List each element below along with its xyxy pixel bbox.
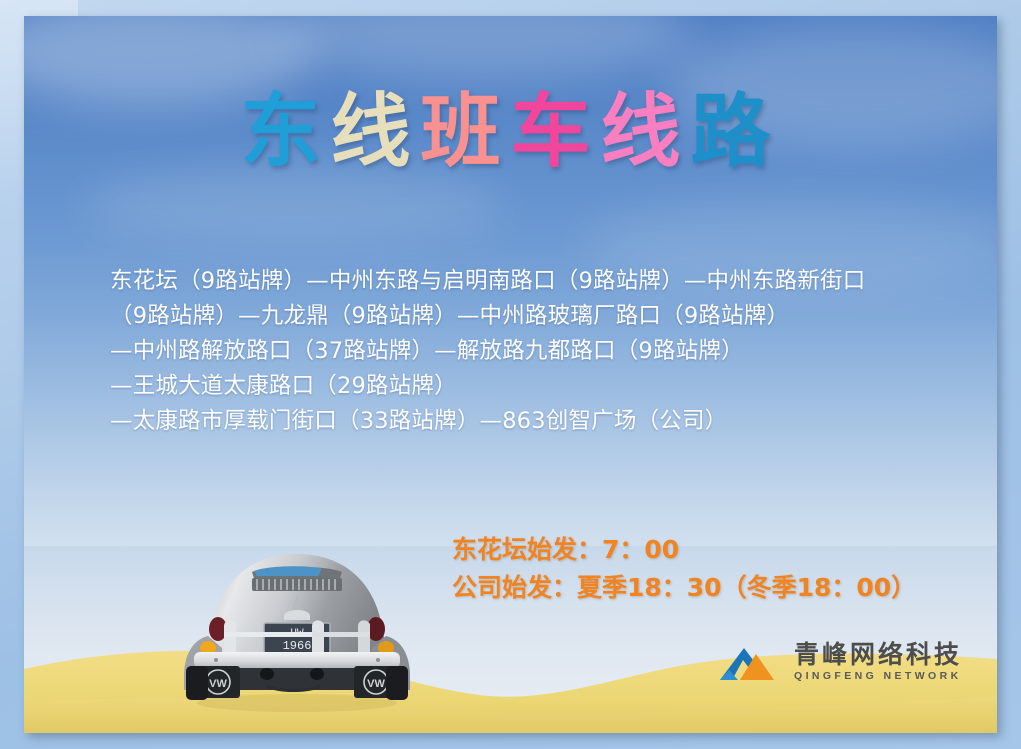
title-char-5: 路 bbox=[691, 85, 781, 178]
title-char-2: 班 bbox=[421, 85, 511, 178]
route-line-1: 东花坛（9路站牌）—中州东路与启明南路口（9路站牌）—中州东路新街口 bbox=[110, 264, 940, 299]
slide-title: 东线班车线路 bbox=[24, 92, 997, 172]
plate-line-2: 1966 bbox=[283, 639, 312, 653]
route-line-3: —中州路解放路口（37路站牌）—解放路九都路口（9路站牌） bbox=[110, 334, 940, 369]
route-line-5: —太康路市厚载门街口（33路站牌）—863创智广场（公司） bbox=[110, 404, 940, 439]
logo-name-en: QINGFENG NETWORK bbox=[794, 671, 962, 682]
route-description: 东花坛（9路站牌）—中州东路与启明南路口（9路站牌）—中州东路新街口（9路站牌）… bbox=[110, 264, 940, 439]
title-char-1: 线 bbox=[331, 85, 421, 178]
title-char-0: 东 bbox=[241, 85, 331, 178]
svg-text:VW: VW bbox=[367, 678, 385, 690]
logo-name-cn: 青峰网络科技 bbox=[794, 642, 962, 667]
slide-canvas: UW 1966 V bbox=[24, 16, 997, 733]
title-char-4: 线 bbox=[601, 85, 691, 178]
vw-beetle-illustration: UW 1966 V bbox=[172, 540, 422, 718]
svg-text:VW: VW bbox=[209, 678, 227, 690]
logo-text: 青峰网络科技 QINGFENG NETWORK bbox=[794, 642, 962, 682]
title-char-3: 车 bbox=[511, 85, 601, 178]
cloud-shape bbox=[274, 16, 694, 81]
departure-return-time: 公司始发：夏季18：30（冬季18：00） bbox=[452, 569, 916, 607]
schedule-block: 东花坛始发：7：00 公司始发：夏季18：30（冬季18：00） bbox=[452, 531, 916, 607]
route-line-2: （9路站牌）—九龙鼎（9路站牌）—中州路玻璃厂路口（9路站牌） bbox=[110, 299, 940, 334]
cloud-shape bbox=[84, 166, 504, 246]
mountain-icon bbox=[718, 640, 784, 684]
company-logo: 青峰网络科技 QINGFENG NETWORK bbox=[718, 640, 962, 684]
route-line-4: —王城大道太康路口（29路站牌） bbox=[110, 369, 940, 404]
departure-start-time: 东花坛始发：7：00 bbox=[452, 531, 916, 569]
